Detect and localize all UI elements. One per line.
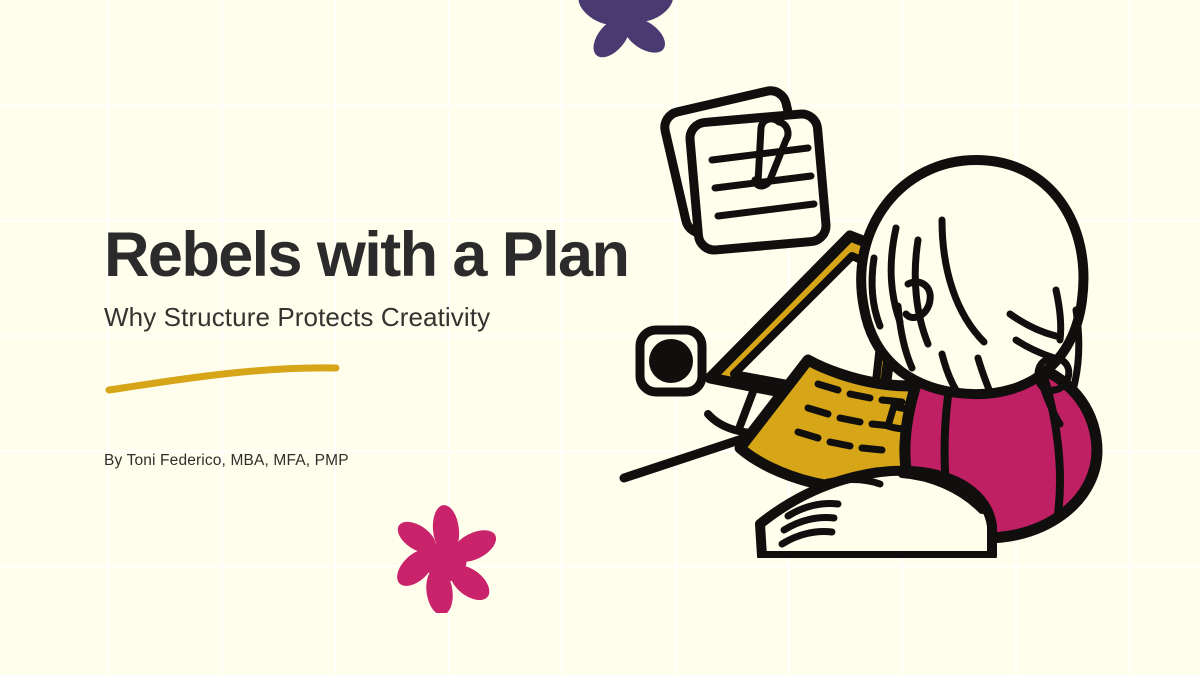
page-subtitle: Why Structure Protects Creativity (104, 302, 664, 333)
gold-underline-swoosh-icon (104, 352, 354, 398)
person-working-on-laptop-illustration (612, 78, 1112, 558)
purple-flower-icon (575, 0, 677, 68)
title-block: Rebels with a Plan Why Structure Protect… (104, 222, 664, 333)
byline: By Toni Federico, MBA, MFA, PMP (104, 452, 349, 470)
presentation-slide: Rebels with a Plan Why Structure Protect… (0, 0, 1200, 675)
arm-and-hand-icon (760, 471, 992, 556)
page-title: Rebels with a Plan (104, 222, 664, 288)
clipboard-notes-icon (662, 88, 828, 252)
magenta-flower-icon (392, 505, 500, 613)
